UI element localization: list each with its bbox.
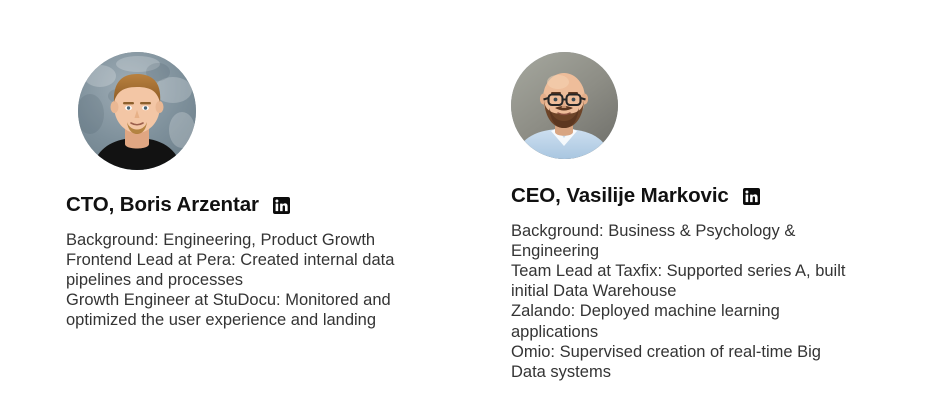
avatar-vasilije-markovic [511,52,618,159]
team-profiles-slide: CTO, Boris Arzentar Background: Engineer… [0,0,948,412]
person-name-text: CEO, Vasilije Markovic [511,185,729,208]
person-name-ceo: CEO, Vasilije Markovic [511,185,911,208]
person-name-cto: CTO, Boris Arzentar [66,194,466,217]
avatar-boris-arzentar [78,52,196,170]
linkedin-icon[interactable] [273,197,290,214]
person-bio-ceo: Background: Business & Psychology & Engi… [511,221,856,383]
person-name-text: CTO, Boris Arzentar [66,194,259,217]
portrait-illustration-left [78,52,196,170]
profile-card-cto: CTO, Boris Arzentar Background: Engineer… [66,0,466,331]
person-bio-cto: Background: Engineering, Product Growth … [66,230,416,331]
linkedin-icon[interactable] [743,188,760,205]
profile-card-ceo: CEO, Vasilije Markovic Background: Busin… [511,0,911,382]
portrait-illustration-right [511,52,618,159]
